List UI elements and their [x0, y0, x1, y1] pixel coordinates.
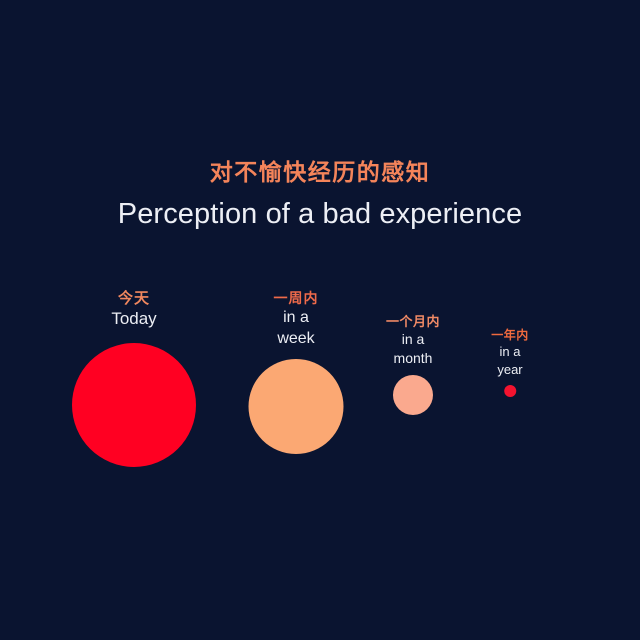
bubble-label-chinese-year: 一年内	[491, 327, 529, 343]
bubble-label-chinese-week: 一周内	[249, 289, 344, 307]
bubble-label-group-month: 一个月内 in a month	[386, 313, 440, 368]
bubble-label-chinese-month: 一个月内	[386, 313, 440, 330]
infographic-canvas: 对不愉快经历的感知 Perception of a bad experience…	[0, 0, 640, 640]
bubble-column-today: 今天 Today	[72, 289, 196, 467]
bubble-label-group-week: 一周内 in a week	[249, 289, 344, 349]
bubble-label-english-year-line1: in a	[491, 343, 529, 361]
bubble-column-week: 一周内 in a week	[249, 289, 344, 454]
title-block: 对不愉快经历的感知 Perception of a bad experience	[0, 158, 640, 231]
bubble-label-chinese-today: 今天	[72, 289, 196, 308]
bubble-column-year: 一年内 in a year	[491, 327, 529, 397]
bubble-label-group-today: 今天 Today	[72, 289, 196, 330]
bubble-column-month: 一个月内 in a month	[386, 313, 440, 415]
bubble-wrap-month	[386, 375, 440, 415]
page-title-chinese: 对不愉快经历的感知	[0, 158, 640, 186]
bubble-label-english-week-line1: in a	[249, 307, 344, 328]
bubble-wrap-today	[72, 343, 196, 467]
bubble-label-english-today-line1: Today	[72, 308, 196, 330]
bubble-wrap-year	[491, 385, 529, 397]
bubble-circle-week	[249, 359, 344, 454]
bubble-circle-today	[72, 343, 196, 467]
bubble-label-group-year: 一年内 in a year	[491, 327, 529, 379]
bubble-label-english-year-line2: year	[491, 361, 529, 379]
bubble-label-english-month-line1: in a	[386, 330, 440, 349]
bubble-circle-month	[393, 375, 433, 415]
bubble-label-english-month-line2: month	[386, 349, 440, 368]
bubble-circle-year	[504, 385, 516, 397]
page-title-english: Perception of a bad experience	[0, 197, 640, 231]
bubble-wrap-week	[249, 359, 344, 454]
bubble-label-english-week-line2: week	[249, 328, 344, 349]
